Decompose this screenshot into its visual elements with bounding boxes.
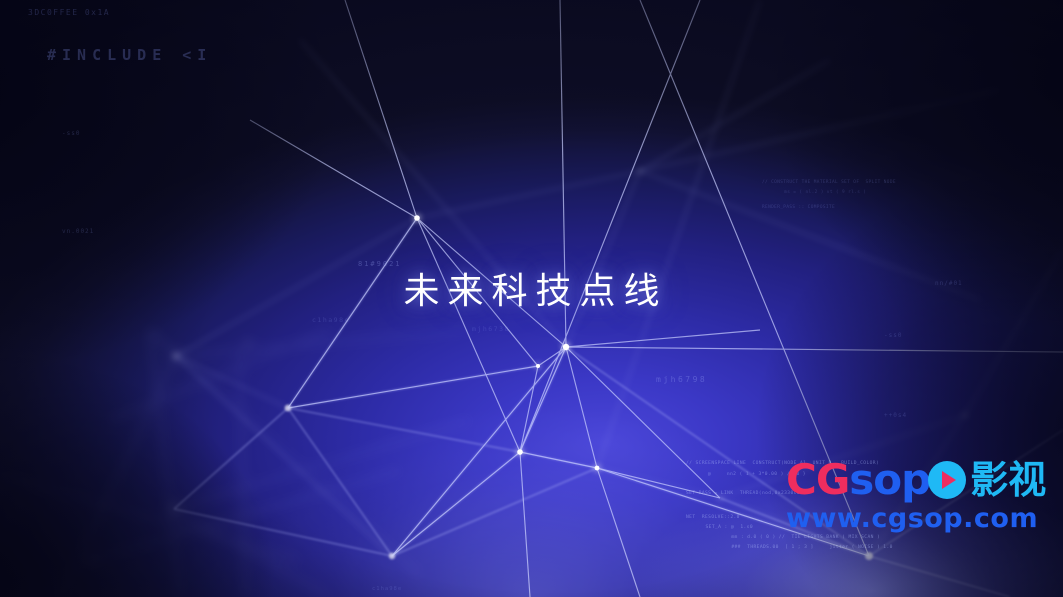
code-include-line: #INCLUDE <I bbox=[47, 46, 212, 64]
code-block-bottom-line7: ### THREADS.00 [ 1 ; 3 ] jitter ( NOISE … bbox=[706, 543, 893, 552]
code-block-bottom-line4: NET RESOLVE::2.0 bbox=[686, 513, 740, 522]
code-top-stamp: 3DC0FFEE 0x1A bbox=[28, 8, 110, 17]
code-block-upper-right-line2: ms = ( nl.2 ) vt ( 9 rl.s ) bbox=[772, 188, 866, 197]
code-block-bottom-line2: @ nn2 ( 1 + 3*0.00 ) / 10 } bbox=[692, 470, 806, 479]
code-block-upper-right: // CONSTRUCT THE MATERIAL SET OF SPLIT N… bbox=[762, 178, 896, 187]
code-block-bottom-line3: SET PASS = LINK THREAD(nod,0x2330cde) bbox=[686, 489, 806, 498]
corner-shadows bbox=[0, 0, 1063, 597]
code-block-bottom-line1: // SCREENSPACE LINE CONSTRUCT(NODE_A1, U… bbox=[686, 459, 879, 468]
code-block-bottom-line5: SET_A : @ 1.s0 bbox=[696, 523, 753, 532]
video-frame: 3DC0FFEE 0x1A #INCLUDE <I -ss0 vn.0021 8… bbox=[0, 0, 1063, 597]
code-block-upper-right-line4: RENDER_PASS :: COMPOSITE bbox=[762, 203, 835, 212]
code-block-bottom-line6: mm : d.0 ( 0 ) // TIE LIGHTS BANK ( MIX … bbox=[706, 533, 880, 542]
